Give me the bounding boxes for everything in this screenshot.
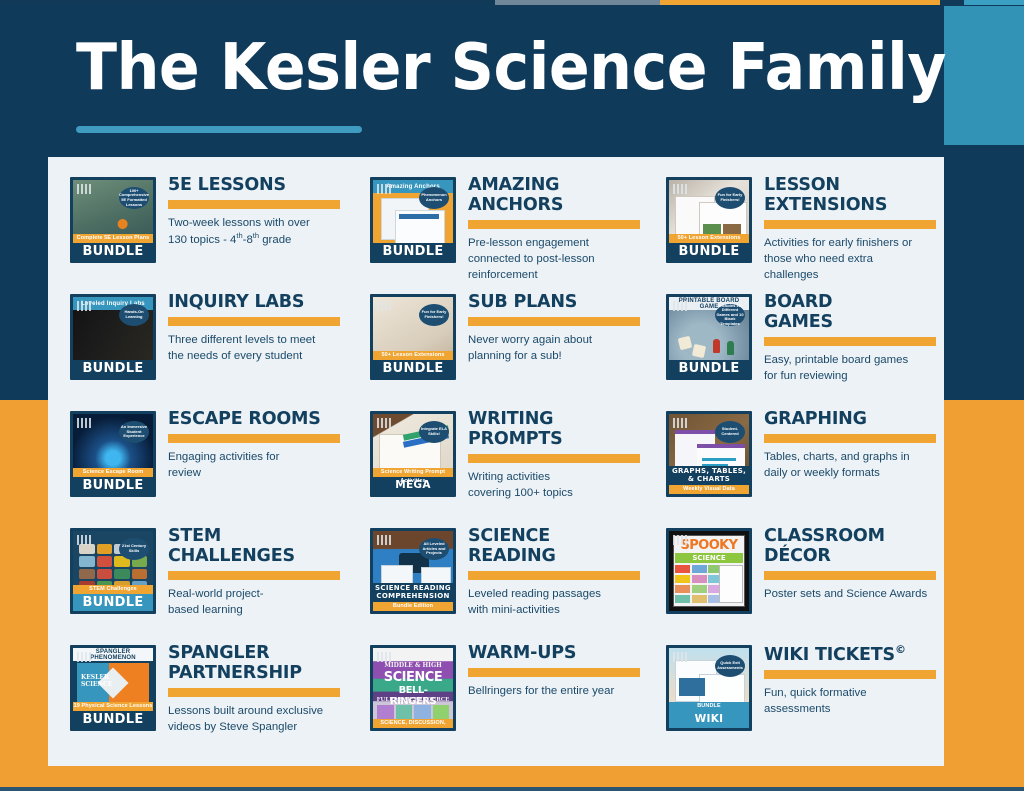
thumbnail-bundle-label: BUNDLE (669, 360, 749, 377)
product-divider-rule (168, 688, 340, 697)
product-thumbnail[interactable]: All Leveled Articles and ProjectsBundle … (370, 528, 456, 614)
thumbnail-bundle-label: BUNDLE (73, 243, 153, 260)
product-thumbnail[interactable]: Amazing AnchorsPhenomenon AnchorsBUNDLE (370, 177, 456, 263)
kesler-logo-icon (77, 184, 92, 194)
thumbnail-sub-label: Complete 5E Lesson Plans (73, 234, 153, 243)
products-grid: 100+ Comprehensive 5E Formatted LessonsC… (48, 157, 944, 766)
product-text-block: STEMCHALLENGESReal-world project- based … (156, 522, 348, 618)
product-divider-rule (764, 337, 936, 346)
thumbnail-badge: Student-Centered (715, 421, 745, 443)
product-thumbnail[interactable]: Quick Exit AssessmentsBUNDLEWIKI TICKETS (666, 645, 752, 731)
product-text-block: CLASSROOMDÉCORPoster sets and Science Aw… (752, 522, 944, 602)
poster-page: The Kesler Science Family 100+ Comprehen… (0, 0, 1024, 791)
thumbnail-bundle-label: BUNDLE (373, 360, 453, 377)
kesler-logo-icon (77, 418, 92, 428)
kesler-logo-icon (377, 652, 392, 662)
thumbnail-bundle-label: WIKI TICKETS (669, 711, 749, 728)
thumbnail-badge: Phenomenon Anchors (419, 187, 449, 209)
product-thumbnail[interactable]: Integrate ELA Skills!Science Writing Pro… (370, 411, 456, 497)
product-description: Bellringers for the entire year (468, 683, 644, 699)
products-card: 100+ Comprehensive 5E Formatted LessonsC… (48, 157, 944, 766)
product-divider-rule (168, 317, 340, 326)
product-description: Pre-lesson engagement connected to post-… (468, 235, 644, 284)
product-text-block: SUB PLANSNever worry again about plannin… (456, 288, 644, 364)
product-text-block: LESSONEXTENSIONSActivities for early fin… (752, 171, 944, 283)
background-navy-right-strip (944, 145, 1024, 400)
thumbnail-badge: Fun for Early Finishers! (419, 304, 449, 326)
kesler-logo-icon (673, 418, 688, 428)
thumbnail-bundle-label: SCIENCE READING COMPREHENSION (373, 583, 453, 602)
product-divider-rule (764, 670, 936, 679)
background-teal-block (944, 6, 1024, 145)
thumbnail-badge: Hands-On Learning (119, 304, 149, 326)
product-title: GRAPHING (764, 410, 944, 430)
kesler-logo-icon (377, 535, 392, 545)
product-title: SPANGLERPARTNERSHIP (168, 644, 348, 684)
kesler-logo-icon (77, 535, 92, 545)
title-underline-rule (76, 126, 362, 133)
product-title: ESCAPE ROOMS (168, 410, 348, 430)
product-title: WRITINGPROMPTS (468, 410, 644, 450)
product-text-block: BOARDGAMESEasy, printable board games fo… (752, 288, 944, 384)
product-title: SCIENCEREADING (468, 527, 644, 567)
product-item[interactable]: 21st Century SkillsSTEM ChallengesBUNDLE… (48, 522, 348, 639)
product-description: Two-week lessons with over130 topics - 4… (168, 215, 348, 248)
product-item[interactable]: All Leveled Articles and ProjectsBundle … (348, 522, 644, 639)
product-thumbnail[interactable]: Fun for Early Finishers!50+ Lesson Exten… (370, 294, 456, 380)
product-thumbnail[interactable]: An Immersive Student ExperienceScience E… (70, 411, 156, 497)
product-item[interactable]: KESLERSCIENCESPANGLER PHENOMENON19 Physi… (48, 639, 348, 756)
product-description: Easy, printable board games for fun revi… (764, 352, 944, 384)
thumbnail-sub-label: SCIENCE, DISCUSSION, QUOTES & MORE (373, 719, 453, 728)
product-divider-rule (468, 454, 640, 463)
bottom-accent-strip (0, 787, 1024, 791)
kesler-logo-icon (377, 184, 392, 194)
thumbnail-sub-label: Science Escape Room (73, 468, 153, 477)
product-title: 5E LESSONS (168, 176, 348, 196)
thumbnail-sub-label: STEM Challenges (73, 585, 153, 594)
product-description: Never worry again about planning for a s… (468, 332, 644, 364)
kesler-logo-icon (673, 184, 688, 194)
product-item[interactable]: PRINTABLE BOARD GAMEIncludes 10 Differen… (644, 288, 944, 405)
product-divider-rule (764, 220, 936, 229)
product-description: Real-world project- based learning (168, 586, 348, 618)
thumbnail-bundle-label: BUNDLE (669, 243, 749, 260)
product-item[interactable]: Fun for Early Finishers!50+ Lesson Exten… (644, 171, 944, 288)
product-text-block: WARM-UPSBellringers for the entire year (456, 639, 644, 699)
thumbnail-sub-label: 50+ Lesson Extensions (373, 351, 453, 360)
thumbnail-sub-label: Science Writing Prompt Activities (373, 468, 453, 477)
product-description: Lessons built around exclusive videos by… (168, 703, 348, 735)
thumbnail-bundle-label: BUNDLE (73, 594, 153, 611)
thumbnail-badge: 100+ Comprehensive 5E Formatted Lessons (119, 187, 149, 209)
product-text-block: 5E LESSONSTwo-week lessons with over130 … (156, 171, 348, 248)
thumbnail-bundle-label: GRAPHS, TABLES, & CHARTS (669, 466, 749, 485)
product-item[interactable]: An Immersive Student ExperienceScience E… (48, 405, 348, 522)
product-item[interactable]: Leveled Inquiry LabsHands-On LearningBUN… (48, 288, 348, 405)
product-description: Fun, quick formative assessments (764, 685, 944, 717)
product-divider-rule (468, 317, 640, 326)
product-divider-rule (468, 668, 640, 677)
product-title: BOARDGAMES (764, 293, 944, 333)
thumbnail-bundle-label: BUNDLE (73, 711, 153, 728)
kesler-logo-icon (377, 301, 392, 311)
product-title: INQUIRY LABS (168, 293, 348, 313)
page-title: The Kesler Science Family (76, 36, 946, 100)
product-thumbnail[interactable]: Fun for Early Finishers!50+ Lesson Exten… (666, 177, 752, 263)
product-text-block: SPANGLERPARTNERSHIPLessons built around … (156, 639, 348, 735)
thumbnail-bundle-label: BUNDLE (373, 243, 453, 260)
top-strip-segment-teal (964, 0, 1024, 5)
product-text-block: ESCAPE ROOMSEngaging activities for revi… (156, 405, 348, 481)
kesler-logo-icon (377, 418, 392, 428)
product-text-block: AMAZINGANCHORSPre-lesson engagement conn… (456, 171, 644, 283)
product-item[interactable]: Student-CenteredWeekly Visual DataGRAPHS… (644, 405, 944, 522)
product-item[interactable]: MIDDLE & HIGHSCIENCEBELL-RINGERSFULL YEA… (348, 639, 644, 756)
product-thumbnail[interactable]: PRINTABLE BOARD GAMEIncludes 10 Differen… (666, 294, 752, 380)
thumbnail-badge: Includes 10 Different Games and 10 Blank… (715, 304, 745, 326)
thumbnail-badge: Integrate ELA Skills! (419, 421, 449, 443)
product-thumbnail[interactable]: SPOOKYSCIENCE POSTERS (666, 528, 752, 614)
product-text-block: WIKI TICKETS©Fun, quick formative assess… (752, 639, 944, 717)
product-thumbnail[interactable]: MIDDLE & HIGHSCIENCEBELL-RINGERSFULL YEA… (370, 645, 456, 731)
product-divider-rule (168, 434, 340, 443)
thumbnail-badge: Quick Exit Assessments (715, 655, 745, 677)
product-thumbnail[interactable]: Student-CenteredWeekly Visual DataGRAPHS… (666, 411, 752, 497)
thumbnail-sub-label: 50+ Lesson Extensions (669, 234, 749, 243)
kesler-logo-icon (673, 301, 688, 311)
product-title: AMAZINGANCHORS (468, 176, 644, 216)
product-text-block: GRAPHINGTables, charts, and graphs in da… (752, 405, 944, 481)
kesler-logo-icon (77, 652, 92, 662)
kesler-logo-icon (673, 535, 688, 545)
product-item[interactable]: Quick Exit AssessmentsBUNDLEWIKI TICKETS… (644, 639, 944, 756)
product-text-block: INQUIRY LABSThree different levels to me… (156, 288, 348, 364)
product-text-block: WRITINGPROMPTSWriting activities coverin… (456, 405, 644, 501)
thumbnail-bundle-label: BUNDLE (73, 360, 153, 377)
thumbnail-bundle-label: BUNDLE (73, 477, 153, 494)
thumbnail-sub-label: Bundle Edition (373, 602, 453, 611)
product-divider-rule (168, 200, 340, 209)
thumbnail-badge: An Immersive Student Experience (119, 421, 149, 443)
product-title: LESSONEXTENSIONS (764, 176, 944, 216)
product-description: Engaging activities for review (168, 449, 348, 481)
thumbnail-sub-label: Weekly Visual Data (669, 485, 749, 494)
thumbnail-sub-label: BUNDLE (669, 702, 749, 711)
product-divider-rule (764, 571, 936, 580)
product-title: SUB PLANS (468, 293, 644, 313)
kesler-logo-icon (673, 652, 688, 662)
thumbnail-badge: 21st Century Skills (119, 538, 149, 560)
product-thumbnail[interactable]: KESLERSCIENCESPANGLER PHENOMENON19 Physi… (70, 645, 156, 731)
product-thumbnail[interactable]: Leveled Inquiry LabsHands-On LearningBUN… (70, 294, 156, 380)
product-description: Three different levels to meet the needs… (168, 332, 348, 364)
product-item[interactable]: Integrate ELA Skills!Science Writing Pro… (348, 405, 644, 522)
thumbnail-badge: All Leveled Articles and Projects (419, 538, 449, 560)
product-description: Poster sets and Science Awards (764, 586, 944, 602)
product-divider-rule (468, 571, 640, 580)
product-title: CLASSROOMDÉCOR (764, 527, 944, 567)
product-description: Activities for early finishers or those … (764, 235, 944, 284)
product-thumbnail[interactable]: 100+ Comprehensive 5E Formatted LessonsC… (70, 177, 156, 263)
product-text-block: SCIENCEREADINGLeveled reading passages w… (456, 522, 644, 618)
product-divider-rule (168, 571, 340, 580)
thumbnail-badge: Fun for Early Finishers! (715, 187, 745, 209)
product-item[interactable]: Fun for Early Finishers!50+ Lesson Exten… (348, 288, 644, 405)
product-item[interactable]: SPOOKYSCIENCE POSTERSCLASSROOMDÉCORPoste… (644, 522, 944, 639)
product-description: Leveled reading passages with mini-activ… (468, 586, 644, 618)
product-thumbnail[interactable]: 21st Century SkillsSTEM ChallengesBUNDLE (70, 528, 156, 614)
product-title: WIKI TICKETS© (764, 644, 944, 666)
kesler-logo-icon (77, 301, 92, 311)
product-divider-rule (764, 434, 936, 443)
poster-header: The Kesler Science Family (0, 0, 944, 157)
product-description: Tables, charts, and graphs in daily or w… (764, 449, 944, 481)
product-title: STEMCHALLENGES (168, 527, 348, 567)
product-title: WARM-UPS (468, 644, 644, 664)
product-item[interactable]: 100+ Comprehensive 5E Formatted LessonsC… (48, 171, 348, 288)
thumbnail-sub-label: 19 Physical Science Lessons (73, 702, 153, 711)
product-divider-rule (468, 220, 640, 229)
product-item[interactable]: Amazing AnchorsPhenomenon AnchorsBUNDLEA… (348, 171, 644, 288)
product-description: Writing activities covering 100+ topics (468, 469, 644, 501)
